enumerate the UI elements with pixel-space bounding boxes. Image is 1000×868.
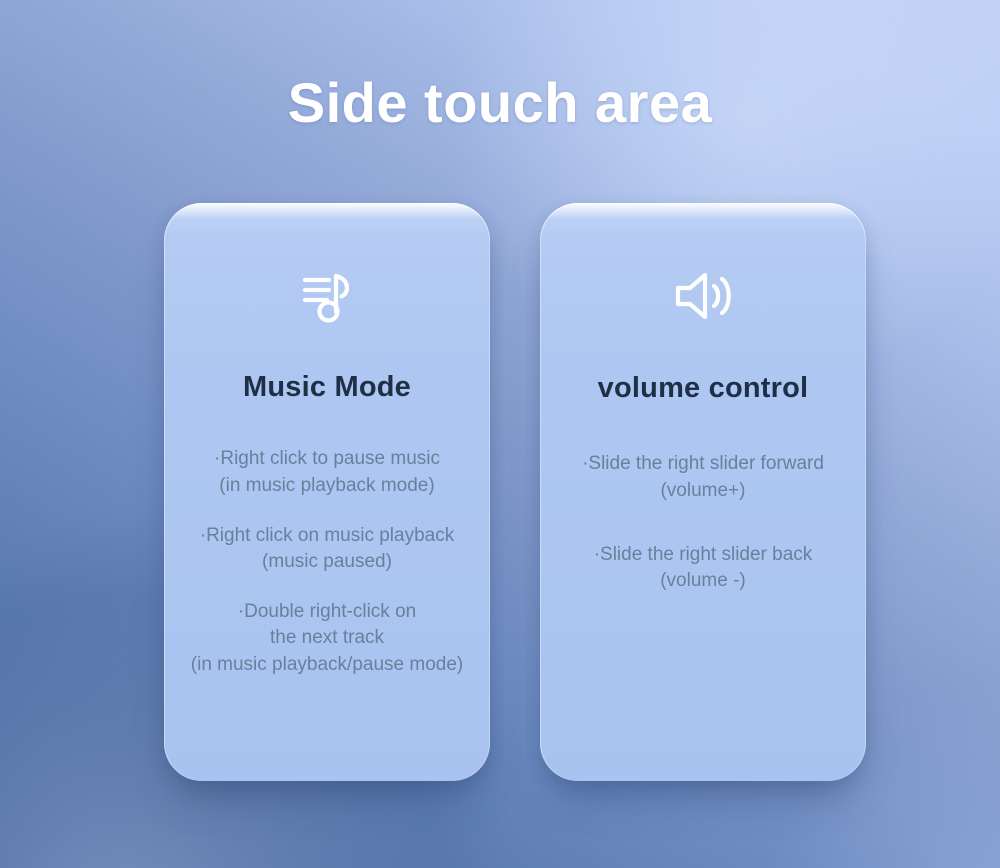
card-volume-control[interactable]: volume control ·Slide the right slider f… (540, 203, 866, 781)
card-body-line: ·Right click on music playback (music pa… (200, 523, 454, 575)
card-body-line: ·Slide the right slider forward (volume+… (582, 451, 824, 503)
card-music-mode[interactable]: Music Mode ·Right click to pause music (… (164, 203, 490, 781)
card-body-line: ·Slide the right slider back (volume -) (594, 542, 813, 594)
card-title: Music Mode (243, 371, 411, 404)
cards-container: Music Mode ·Right click to pause music (… (164, 203, 866, 781)
card-body: ·Right click to pause music (in music pl… (178, 446, 476, 678)
volume-speaker-icon (672, 259, 734, 333)
music-playlist-icon (296, 259, 358, 333)
page-root: Side touch area Music Mode ·Right click … (0, 0, 1000, 868)
card-body-line: ·Right click to pause music (in music pl… (214, 446, 440, 498)
page-title: Side touch area (0, 72, 1000, 134)
card-body-line: ·Double right-click on the next track (i… (191, 599, 463, 678)
card-body: ·Slide the right slider forward (volume+… (554, 451, 852, 632)
card-title: volume control (598, 372, 809, 405)
